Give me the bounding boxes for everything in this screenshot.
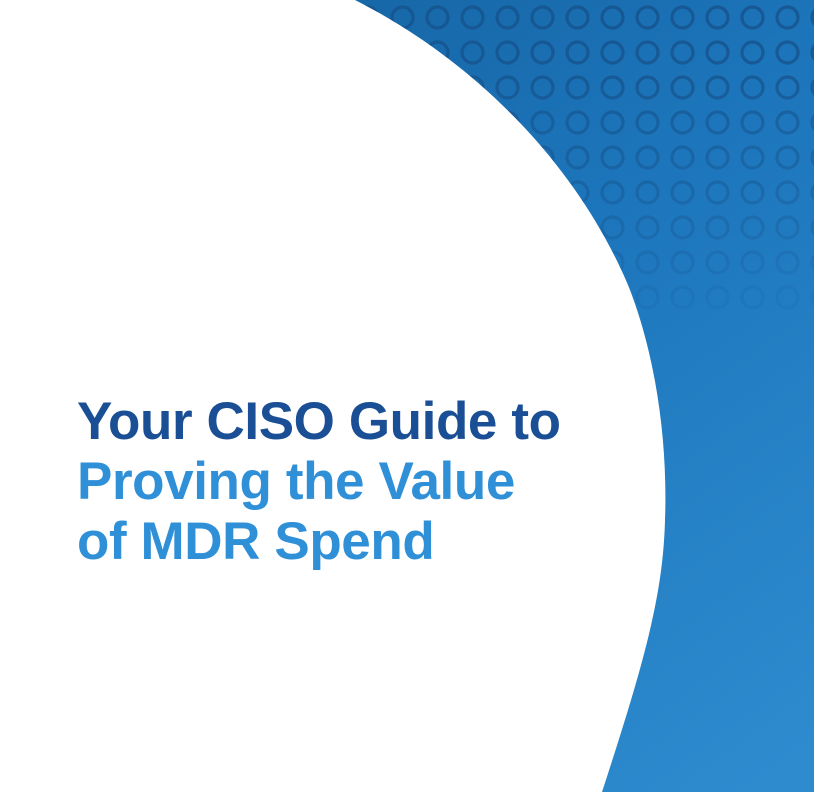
title-line-2: Proving the Value — [77, 452, 597, 512]
title-line-1: Your CISO Guide to — [77, 392, 597, 452]
title-line-3: of MDR Spend — [77, 512, 597, 572]
cover-page: Your CISO Guide to Proving the Value of … — [0, 0, 814, 792]
ring-dot-pattern — [0, 0, 814, 324]
page-title: Your CISO Guide to Proving the Value of … — [77, 392, 597, 572]
